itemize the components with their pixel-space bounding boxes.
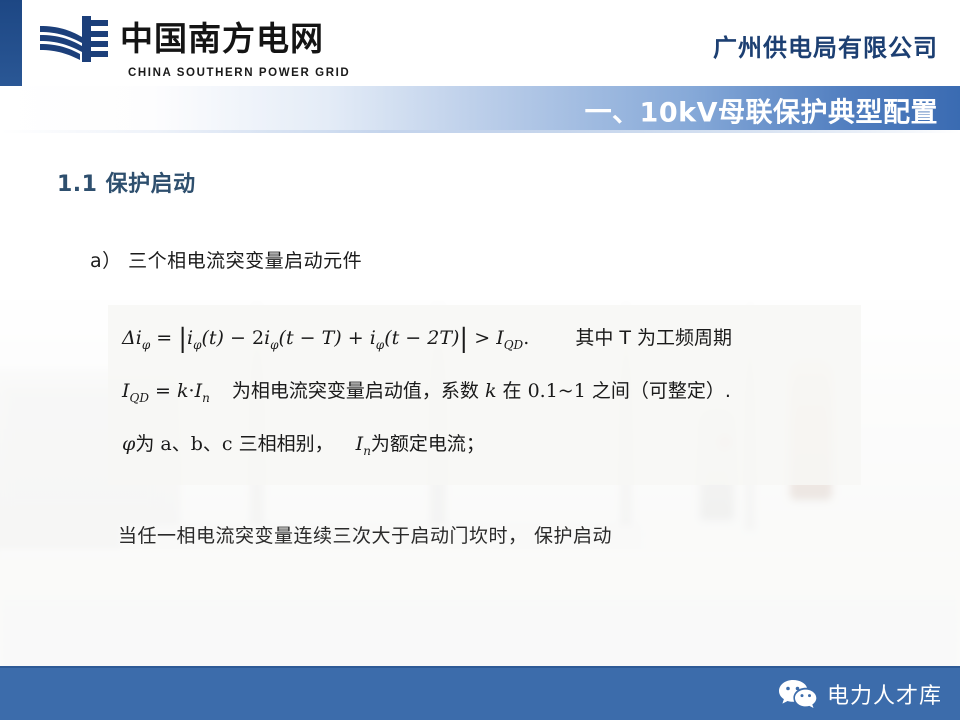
brand-name-en: CHINA SOUTHERN POWER GRID xyxy=(128,67,350,79)
header-accent-bar xyxy=(0,0,22,86)
formula2-k: k xyxy=(177,380,189,402)
formula2-lhs-sub: QD xyxy=(130,391,149,405)
formula3-text3: 为额定电流； xyxy=(371,433,485,455)
company-name: 广州供电局有限公司 xyxy=(713,28,938,63)
slide-body: 1.1 保护启动 a） 三个相电流突变量启动元件 Δiφ = |iφ(t) − … xyxy=(0,133,960,667)
wechat-badge-label: 电力人才库 xyxy=(827,678,942,710)
brand-name-cn: 中国南方电网 xyxy=(120,22,324,55)
section-heading: 1.1 保护启动 xyxy=(57,166,196,198)
slide-title: 一、10kV母联保护典型配置 xyxy=(585,90,938,129)
formula-equals: = xyxy=(156,327,172,349)
formula3-text1: 为 xyxy=(135,433,154,455)
brand-logo: 中国南方电网 CHINA SOUTHERN POWER GRID xyxy=(38,12,350,79)
formula-minus: − xyxy=(230,327,246,349)
formula2-text2: 在 xyxy=(503,380,522,402)
formula2-text1: 为相电流突变量启动值，系数 xyxy=(232,380,479,402)
formula-abs-close: | xyxy=(459,329,468,350)
formula-t1-arg: (t) xyxy=(201,327,223,349)
formula-gt: > xyxy=(474,327,490,349)
formula-t2-arg: (t − T) xyxy=(279,327,342,349)
title-band-underline xyxy=(0,130,960,133)
wechat-icon xyxy=(778,678,818,710)
formula-line-1: Δiφ = |iφ(t) − 2iφ(t − T) + iφ(t − 2T)| … xyxy=(108,323,861,352)
footer-top-edge xyxy=(0,666,960,668)
wechat-badge: 电力人才库 xyxy=(778,678,942,710)
slide-title-band: 一、10kV母联保护典型配置 xyxy=(0,86,960,133)
formula2-k2: k xyxy=(485,380,497,402)
formula-delta: Δ xyxy=(122,327,136,349)
formula2-in-sub: n xyxy=(202,391,210,405)
formula3-text2: 三相相别， xyxy=(239,433,334,455)
formula-lhs-sub: φ xyxy=(142,338,150,352)
formula-t3-sub: φ xyxy=(376,338,384,352)
formula-line1-note: 其中 T 为工频周期 xyxy=(575,327,732,349)
formula-rhs-i: I xyxy=(496,327,504,349)
formula-t3-arg: (t − 2T) xyxy=(384,327,459,349)
formula3-phi: φ xyxy=(122,433,135,455)
formula-line-3: φ为 a、b、c 三相相别， In为额定电流； xyxy=(108,429,861,458)
formula2-in: I xyxy=(195,380,203,402)
formula2-equals: = xyxy=(155,380,171,402)
formula-rhs-sub: QD xyxy=(504,338,523,352)
formula-plus: + xyxy=(348,327,364,349)
formula2-range: 0.1~1 xyxy=(528,380,586,402)
formula-block: Δiφ = |iφ(t) − 2iφ(t − T) + iφ(t − 2T)| … xyxy=(108,305,861,485)
formula2-text3: 之间（可整定）. xyxy=(592,380,731,402)
formula-t2-sub: φ xyxy=(270,338,278,352)
formula-t2-coef: 2 xyxy=(252,327,264,349)
formula3-in-sub: n xyxy=(363,443,371,457)
slide-header: 中国南方电网 CHINA SOUTHERN POWER GRID 广州供电局有限… xyxy=(0,0,960,86)
csg-grid-logo-icon xyxy=(38,12,112,64)
slide-root: 中国南方电网 CHINA SOUTHERN POWER GRID 广州供电局有限… xyxy=(0,0,960,720)
formula-period: . xyxy=(523,327,529,349)
formula2-lhs-i: I xyxy=(122,380,130,402)
slide-footer: 电力人才库 xyxy=(0,668,960,720)
formula-abs-open: | xyxy=(178,329,187,350)
formula3-phases: a、b、c xyxy=(160,433,232,455)
closing-statement: 当任一相电流突变量连续三次大于启动门坎时， 保护启动 xyxy=(118,521,612,548)
bullet-item-a: a） 三个相电流突变量启动元件 xyxy=(90,246,362,273)
formula-line-2: IQD = k·In 为相电流突变量启动值，系数 k 在 0.1~1 之间（可整… xyxy=(108,376,861,405)
brand-logo-row: 中国南方电网 xyxy=(38,12,350,64)
